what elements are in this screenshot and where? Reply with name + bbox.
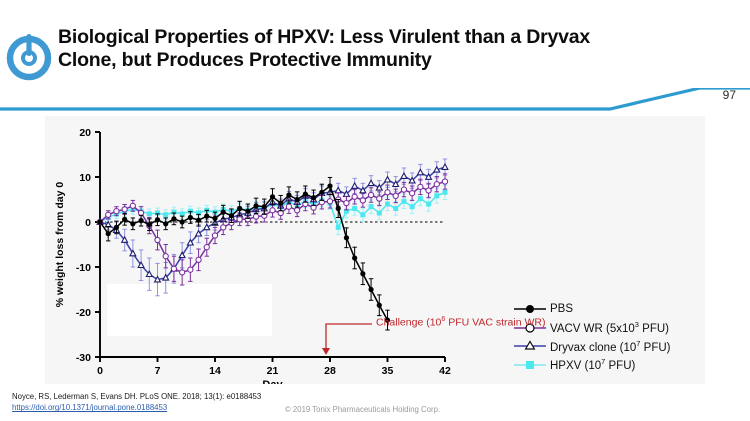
data-point: [385, 177, 391, 182]
data-point: [401, 199, 406, 204]
x-tick-label: 21: [267, 365, 279, 377]
y-tick-label: 20: [79, 127, 91, 139]
data-point: [122, 217, 127, 222]
data-point: [147, 222, 152, 227]
data-point: [385, 190, 390, 195]
data-point: [237, 217, 242, 222]
data-point: [410, 204, 415, 209]
data-point: [368, 192, 373, 197]
data-point: [360, 198, 365, 203]
challenge-annotation-label: Challenge (106 PFU VAC strain WR): [376, 316, 545, 329]
data-point: [295, 208, 300, 213]
data-point: [385, 202, 390, 207]
data-point: [106, 212, 111, 217]
data-point: [221, 225, 226, 230]
data-point: [163, 212, 168, 217]
data-point: [286, 192, 291, 197]
data-point: [377, 196, 382, 201]
data-point: [204, 224, 210, 229]
challenge-text-pre: Challenge (10: [376, 317, 441, 329]
page-title: Biological Properties of HPXV: Less Viru…: [58, 26, 618, 72]
data-point: [443, 190, 448, 195]
doi-link[interactable]: https://doi.org/10.1371/journal.pone.018…: [12, 403, 167, 412]
data-point: [180, 219, 185, 224]
data-point: [155, 237, 160, 242]
data-point: [180, 270, 185, 275]
data-point: [360, 212, 365, 217]
data-point: [352, 206, 357, 211]
data-point: [262, 204, 267, 209]
data-point: [270, 194, 275, 199]
data-point: [196, 257, 201, 262]
data-point: [426, 202, 431, 207]
y-axis-label: % weight loss from day 0: [54, 182, 66, 308]
data-point: [434, 182, 439, 187]
data-point: [204, 245, 209, 250]
data-point: [410, 191, 415, 196]
citation-text: Noyce, RS, Lederman S, Evans DH. PLoS ON…: [12, 391, 261, 402]
data-point: [327, 183, 332, 188]
legend-label-1: VACV WR (5x103 PFU): [550, 320, 669, 335]
data-point: [188, 267, 193, 272]
data-point: [196, 218, 201, 223]
data-point: [327, 199, 332, 204]
figure-panel: -30-20-1001020071421283542Day% weight lo…: [45, 116, 705, 384]
data-point: [253, 214, 258, 219]
data-point: [106, 231, 111, 236]
x-tick-label: 0: [97, 365, 103, 377]
data-point: [344, 235, 349, 240]
data-point: [344, 201, 349, 206]
data-point: [401, 173, 407, 178]
data-point: [295, 197, 300, 202]
data-point: [434, 193, 439, 198]
copyright-notice: © 2019 Tonix Pharmaceuticals Holding Cor…: [285, 405, 440, 414]
challenge-text-post: PFU VAC strain WR): [445, 317, 545, 329]
data-point: [245, 209, 250, 214]
x-tick-label: 7: [155, 365, 161, 377]
data-point: [138, 218, 143, 223]
legend-label-pre: Dryvax clone (10: [550, 342, 636, 354]
figure-white-patch: [107, 284, 272, 336]
data-point: [188, 215, 193, 220]
data-point: [163, 221, 168, 226]
header-accent-banner: [0, 88, 750, 114]
challenge-annotation: [310, 306, 550, 358]
x-tick-label: 42: [439, 365, 451, 377]
x-tick-label: 28: [324, 365, 336, 377]
data-point: [360, 271, 365, 276]
data-point: [311, 195, 316, 200]
data-point: [114, 209, 119, 214]
y-tick-label: 0: [85, 217, 91, 229]
data-point: [212, 233, 217, 238]
data-point: [155, 217, 160, 222]
data-point: [147, 211, 152, 216]
x-tick-label: 14: [209, 365, 221, 377]
legend-marker-filled-square: [513, 358, 547, 372]
legend-label-0: PBS: [550, 303, 573, 315]
legend-item-3: HPXV (107 PFU): [513, 356, 671, 375]
data-point: [286, 204, 291, 209]
page-number: 97: [723, 88, 736, 102]
x-tick-label: 35: [382, 365, 394, 377]
data-point: [163, 254, 168, 259]
data-point: [171, 216, 176, 221]
y-tick-label: 10: [79, 172, 91, 184]
data-point: [97, 219, 102, 224]
data-point: [229, 213, 234, 218]
data-point: [303, 192, 308, 197]
data-point: [171, 266, 176, 271]
data-point: [335, 187, 341, 192]
data-point: [237, 206, 242, 211]
data-point: [352, 255, 357, 260]
data-point: [122, 207, 127, 212]
data-point: [352, 183, 358, 188]
legend-label-pre: HPXV (10: [550, 360, 601, 372]
data-point: [426, 188, 431, 193]
legend-label-post: PFU): [605, 360, 635, 372]
legend-label-2: Dryvax clone (107 PFU): [550, 339, 671, 354]
data-point: [369, 204, 374, 209]
legend-label-3: HPXV (107 PFU): [550, 357, 635, 372]
data-point: [393, 206, 398, 211]
legend-label-post: PFU): [640, 342, 670, 354]
data-point: [442, 164, 448, 169]
legend-glyph: [526, 361, 534, 369]
data-point: [204, 214, 209, 219]
data-point: [418, 196, 423, 201]
data-point: [336, 225, 341, 230]
data-point: [442, 179, 447, 184]
legend-label-pre: PBS: [550, 303, 573, 315]
x-axis-label: Day: [262, 379, 283, 384]
data-point: [434, 167, 440, 172]
data-point: [253, 203, 258, 208]
data-point: [418, 184, 423, 189]
data-point: [368, 180, 374, 185]
legend-label-pre: VACV WR (5x10: [550, 323, 635, 335]
data-point: [212, 216, 217, 221]
data-point: [270, 208, 275, 213]
data-point: [180, 211, 185, 216]
data-point: [401, 187, 406, 192]
data-point: [393, 193, 398, 198]
data-point: [319, 190, 324, 195]
data-point: [368, 287, 373, 292]
y-tick-label: -10: [76, 262, 91, 274]
data-point: [114, 225, 119, 230]
footer-citation: Noyce, RS, Lederman S, Evans DH. PLoS ON…: [12, 391, 261, 414]
data-point: [352, 194, 357, 199]
data-point: [221, 210, 226, 215]
data-point: [278, 201, 283, 206]
tonix-power-logo: [5, 30, 53, 82]
y-tick-label: -20: [76, 307, 91, 319]
data-point: [130, 221, 135, 226]
y-tick-label: -30: [76, 352, 91, 364]
data-point: [417, 169, 423, 174]
legend-label-post: PFU): [639, 323, 669, 335]
data-point: [130, 203, 135, 208]
data-point: [377, 211, 382, 216]
data-point: [155, 277, 161, 282]
data-point: [336, 206, 341, 211]
